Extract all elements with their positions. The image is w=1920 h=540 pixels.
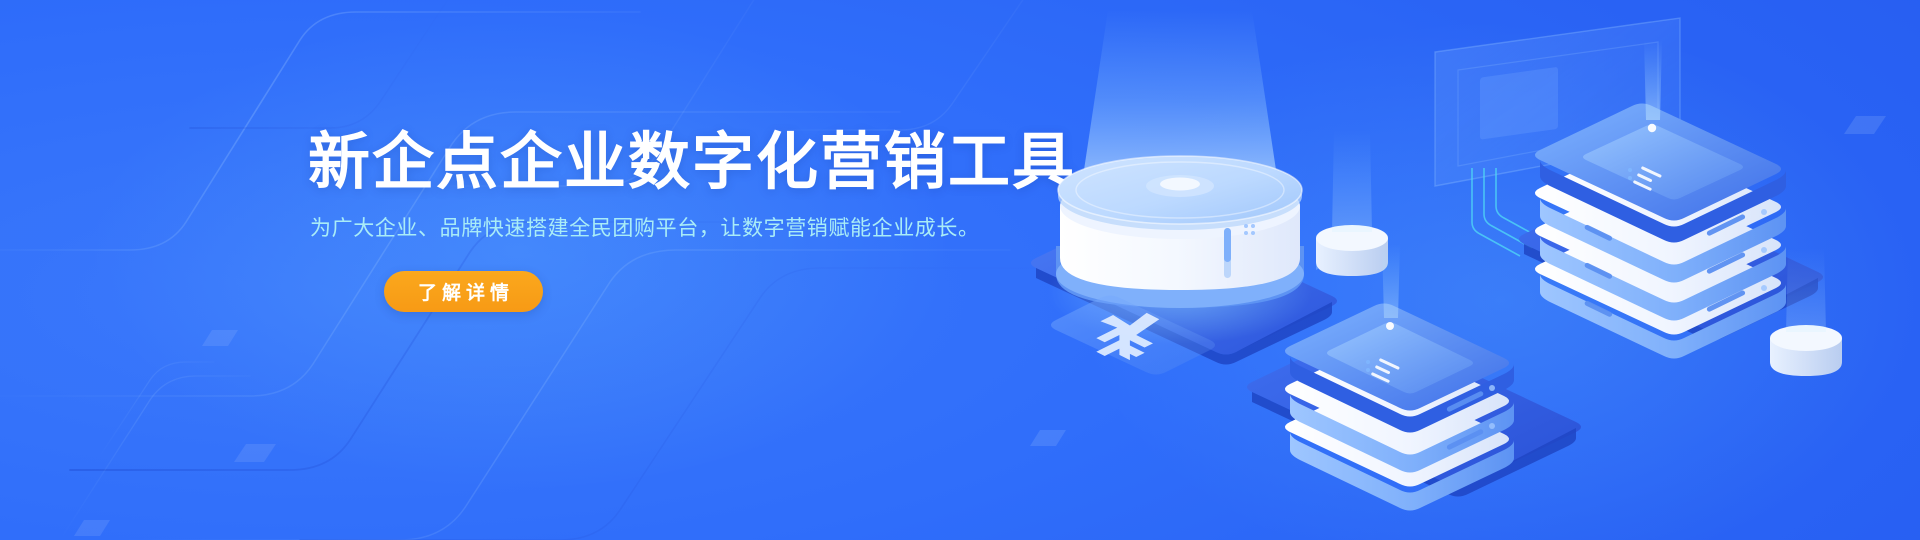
hero-banner: 新企点企业数字化营销工具 为广大企业、品牌快速搭建全民团购平台，让数字营销赋能企…: [0, 0, 1920, 540]
post-cylinder-a: [1316, 130, 1388, 276]
isometric-datacenter-illustration: [980, 0, 1920, 540]
page-title: 新企点企业数字化营销工具: [308, 126, 1008, 199]
hero-copy: 新企点企业数字化营销工具 为广大企业、品牌快速搭建全民团购平台，让数字营销赋能企…: [308, 126, 1008, 312]
server-stack-lower: [1285, 244, 1514, 511]
light-beam: [1084, 10, 1276, 170]
hero-subtitle: 为广大企业、品牌快速搭建全民团购平台，让数字营销赋能企业成长。: [310, 213, 1008, 245]
learn-more-button[interactable]: 了解详情: [384, 271, 543, 312]
